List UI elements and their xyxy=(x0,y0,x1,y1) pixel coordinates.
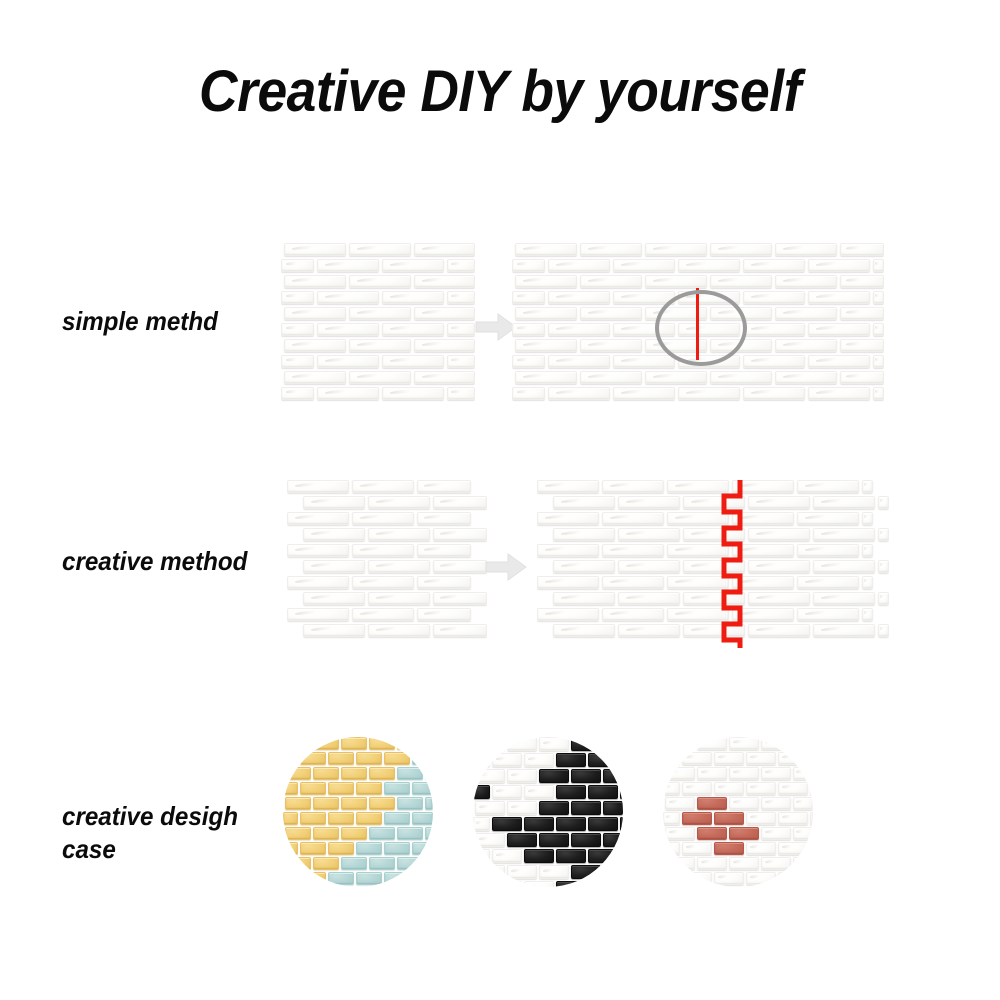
brick-tile xyxy=(283,842,298,855)
brick-tile xyxy=(548,355,610,368)
brick-tile xyxy=(793,827,813,840)
brick-tile xyxy=(663,782,680,795)
brick-tile xyxy=(515,339,577,352)
brick-tile xyxy=(369,857,395,870)
brick-tile xyxy=(473,785,490,799)
brick-tile xyxy=(697,827,727,840)
brick-tile xyxy=(317,291,379,304)
brick-tile xyxy=(475,801,505,815)
brick-tile xyxy=(397,767,423,780)
brick-tile xyxy=(492,785,522,799)
brick-tile xyxy=(813,496,875,509)
brick-tile xyxy=(300,842,326,855)
brick-tile xyxy=(808,355,870,368)
brick-tile xyxy=(281,323,314,336)
brick-tile xyxy=(313,857,339,870)
brick-tile xyxy=(588,849,618,863)
brick-tile xyxy=(775,339,837,352)
brick-tile xyxy=(603,737,623,751)
brick-tile xyxy=(475,865,505,879)
brick-tile xyxy=(507,737,537,751)
brick-tile xyxy=(414,307,475,320)
brick-tile xyxy=(313,827,339,840)
brick-tile xyxy=(873,323,885,336)
brick-tile xyxy=(588,785,618,799)
brick-tile xyxy=(524,785,554,799)
brick-tile xyxy=(808,387,870,400)
brick-tile xyxy=(761,797,791,810)
row-label-simple-method: simple methd xyxy=(62,305,218,338)
brick-tile xyxy=(512,291,545,304)
brick-tile xyxy=(414,243,475,256)
brick-tile xyxy=(349,243,411,256)
brick-tile xyxy=(840,371,884,384)
brick-tile xyxy=(382,355,444,368)
brick-tile xyxy=(539,833,569,847)
brick-tile xyxy=(714,752,744,765)
brick-tile xyxy=(300,812,326,825)
brick-tile xyxy=(810,842,813,855)
brick-tile xyxy=(475,833,505,847)
brick-tile xyxy=(553,560,615,573)
brick-tile xyxy=(580,243,642,256)
brick-tile xyxy=(775,371,837,384)
brick-tile xyxy=(797,608,859,621)
brick-tile xyxy=(285,857,311,870)
brick-tile xyxy=(382,259,444,272)
brick-tile xyxy=(797,576,859,589)
brick-tile xyxy=(793,767,813,780)
brick-tile xyxy=(729,827,759,840)
brick-tile xyxy=(512,259,545,272)
brick-tile xyxy=(368,624,430,637)
brick-tile xyxy=(748,592,810,605)
design-case-black-white-pixel xyxy=(473,737,623,887)
brick-tile xyxy=(878,624,889,637)
brick-tile xyxy=(553,496,615,509)
brick-tile xyxy=(515,243,577,256)
brick-tile xyxy=(300,872,326,885)
brick-tile xyxy=(284,339,346,352)
brick-tile xyxy=(349,307,411,320)
brick-tile xyxy=(341,797,367,810)
brick-tile xyxy=(417,512,471,525)
brick-tile xyxy=(761,767,791,780)
brick-tile xyxy=(284,307,346,320)
brick-tile xyxy=(682,812,712,825)
brick-tile xyxy=(303,560,365,573)
brick-tile xyxy=(369,737,395,750)
brick-tile xyxy=(433,528,487,541)
brick-tile xyxy=(328,782,354,795)
brick-tile xyxy=(425,797,433,810)
brick-tile xyxy=(356,872,382,885)
brick-tile xyxy=(571,833,601,847)
brick-tile xyxy=(384,752,410,765)
brick-tile xyxy=(813,528,875,541)
brick-tile xyxy=(602,544,664,557)
brick-tile xyxy=(397,827,423,840)
brick-tile xyxy=(746,842,776,855)
brick-tile xyxy=(492,817,522,831)
brick-tile xyxy=(714,782,744,795)
brick-tile xyxy=(524,849,554,863)
brick-tile xyxy=(878,496,889,509)
brick-tile xyxy=(537,608,599,621)
brick-tile xyxy=(507,801,537,815)
brick-tile xyxy=(778,752,808,765)
design-case-yellow-mint-diagonal xyxy=(283,737,433,887)
brick-tile xyxy=(368,592,430,605)
brick-tile xyxy=(341,767,367,780)
brick-tile xyxy=(412,812,433,825)
brick-tile xyxy=(714,842,744,855)
brick-tile xyxy=(397,857,423,870)
brick-tile xyxy=(382,291,444,304)
brick-tile xyxy=(613,291,675,304)
brick-tile xyxy=(588,817,618,831)
brick-tile xyxy=(743,355,805,368)
brick-tile xyxy=(447,323,476,336)
brick-tile xyxy=(663,842,680,855)
brick-tile xyxy=(775,275,837,288)
brick-tile xyxy=(620,753,623,767)
brick-tile xyxy=(356,842,382,855)
brick-tile xyxy=(284,243,346,256)
brick-tile xyxy=(678,387,740,400)
brick-tile xyxy=(303,592,365,605)
brick-tile xyxy=(317,323,379,336)
brick-tile xyxy=(285,737,311,750)
brick-tile xyxy=(433,592,487,605)
brick-tile xyxy=(352,544,414,557)
brick-tile xyxy=(682,782,712,795)
brick-tile xyxy=(697,737,727,750)
brick-tile xyxy=(682,872,712,885)
brick-tile xyxy=(539,769,569,783)
brick-tile xyxy=(553,624,615,637)
brick-tile xyxy=(548,291,610,304)
brick-tile xyxy=(548,323,610,336)
brick-tile xyxy=(382,387,444,400)
brick-tile xyxy=(447,387,476,400)
brick-tile xyxy=(553,592,615,605)
brick-tile xyxy=(748,528,810,541)
brick-tile xyxy=(369,797,395,810)
brick-tile xyxy=(729,737,759,750)
brick-tile xyxy=(571,801,601,815)
brick-tile xyxy=(873,259,885,272)
brick-tile xyxy=(878,560,889,573)
brick-tile xyxy=(588,753,618,767)
brick-tile xyxy=(524,881,554,887)
brick-tile xyxy=(571,737,601,751)
brick-tile xyxy=(571,865,601,879)
brick-tile xyxy=(368,528,430,541)
brick-tile xyxy=(349,371,411,384)
brick-tile xyxy=(447,259,476,272)
brick-tile xyxy=(475,737,505,751)
brick-tile xyxy=(287,576,349,589)
brick-tile xyxy=(797,512,859,525)
brick-tile xyxy=(602,608,664,621)
brick-tile xyxy=(613,259,675,272)
brick-tile xyxy=(778,812,808,825)
brick-tile xyxy=(645,371,707,384)
brick-tile xyxy=(285,797,311,810)
brick-tile xyxy=(729,857,759,870)
brick-tile xyxy=(475,769,505,783)
brick-tile xyxy=(813,592,875,605)
brick-tile xyxy=(810,812,813,825)
brick-tile xyxy=(797,544,859,557)
brick-tile xyxy=(603,801,623,815)
brick-tile xyxy=(473,881,490,887)
brick-tile xyxy=(368,560,430,573)
highlight-ellipse xyxy=(655,290,747,366)
brick-tile xyxy=(873,355,885,368)
brick-tile xyxy=(862,480,873,493)
brick-tile xyxy=(580,371,642,384)
panel-creative-before xyxy=(287,480,487,640)
brick-tile xyxy=(746,752,776,765)
brick-tile xyxy=(571,769,601,783)
brick-tile xyxy=(384,872,410,885)
brick-tile xyxy=(840,307,884,320)
brick-tile xyxy=(328,812,354,825)
panel-simple-before xyxy=(281,243,475,404)
brick-tile xyxy=(618,592,680,605)
brick-tile xyxy=(507,769,537,783)
brick-tile xyxy=(507,833,537,847)
brick-tile xyxy=(663,872,680,885)
brick-tile xyxy=(473,753,490,767)
brick-tile xyxy=(743,387,805,400)
brick-tile xyxy=(603,833,623,847)
brick-tile xyxy=(352,608,414,621)
brick-tile xyxy=(603,865,623,879)
brick-tile xyxy=(417,544,471,557)
brick-tile xyxy=(356,812,382,825)
brick-tile xyxy=(433,496,487,509)
brick-tile xyxy=(417,576,471,589)
brick-tile xyxy=(613,355,675,368)
brick-tile xyxy=(588,881,618,887)
arrow-right-icon xyxy=(484,550,528,584)
brick-tile xyxy=(433,624,487,637)
brick-tile xyxy=(548,259,610,272)
brick-tile xyxy=(746,872,776,885)
brick-tile xyxy=(775,243,837,256)
brick-tile xyxy=(382,323,444,336)
brick-tile xyxy=(580,275,642,288)
brick-tile xyxy=(862,544,873,557)
brick-tile xyxy=(761,827,791,840)
brick-tile xyxy=(537,512,599,525)
brick-tile xyxy=(775,307,837,320)
brick-tile xyxy=(473,849,490,863)
brick-tile xyxy=(412,872,433,885)
brick-tile xyxy=(748,624,810,637)
brick-tile xyxy=(300,782,326,795)
brick-tile xyxy=(425,767,433,780)
brick-tile xyxy=(778,842,808,855)
brick-tile xyxy=(352,576,414,589)
brick-tile xyxy=(317,259,379,272)
brick-tile xyxy=(556,817,586,831)
brick-tile xyxy=(425,857,433,870)
brick-tile xyxy=(663,812,680,825)
row-label-creative-design-case: creative desigh case xyxy=(62,800,238,867)
brick-tile xyxy=(433,560,487,573)
brick-tile xyxy=(341,857,367,870)
brick-tile xyxy=(473,817,490,831)
brick-tile xyxy=(556,881,586,887)
brick-tile xyxy=(743,259,805,272)
brick-tile xyxy=(873,291,885,304)
brick-tile xyxy=(548,387,610,400)
brick-tile xyxy=(300,752,326,765)
brick-tile xyxy=(539,737,569,751)
brick-tile xyxy=(317,355,379,368)
brick-tile xyxy=(761,737,791,750)
brick-tile xyxy=(714,872,744,885)
brick-tile xyxy=(746,812,776,825)
brick-tile xyxy=(281,259,314,272)
brick-tile xyxy=(303,496,365,509)
brick-tile xyxy=(352,512,414,525)
row-label-creative-method: creative method xyxy=(62,545,247,578)
brick-tile xyxy=(425,737,433,750)
brick-tile xyxy=(682,752,712,765)
brick-tile xyxy=(414,371,475,384)
brick-tile xyxy=(537,544,599,557)
page-title: Creative DIY by yourself xyxy=(40,58,960,125)
brick-tile xyxy=(665,797,695,810)
brick-tile xyxy=(813,560,875,573)
brick-tile xyxy=(492,753,522,767)
brick-tile xyxy=(556,785,586,799)
brick-tile xyxy=(793,857,813,870)
brick-tile xyxy=(512,387,545,400)
brick-tile xyxy=(285,767,311,780)
brick-tile xyxy=(797,480,859,493)
brick-tile xyxy=(524,817,554,831)
brick-tile xyxy=(620,849,623,863)
brick-tile xyxy=(537,480,599,493)
brick-tile xyxy=(682,842,712,855)
brick-tile xyxy=(710,275,772,288)
brick-tile xyxy=(620,785,623,799)
brick-tile xyxy=(515,371,577,384)
brick-tile xyxy=(356,752,382,765)
brick-tile xyxy=(793,737,813,750)
brick-tile xyxy=(665,767,695,780)
brick-tile xyxy=(349,339,411,352)
brick-tile xyxy=(710,243,772,256)
brick-tile xyxy=(303,624,365,637)
brick-tile xyxy=(397,737,423,750)
brick-tile xyxy=(665,857,695,870)
brick-tile xyxy=(603,769,623,783)
brick-tile xyxy=(384,782,410,795)
brick-tile xyxy=(813,624,875,637)
brick-tile xyxy=(620,881,623,887)
brick-tile xyxy=(349,275,411,288)
brick-tile xyxy=(618,624,680,637)
brick-tile xyxy=(303,528,365,541)
brick-tile xyxy=(492,881,522,887)
brick-tile xyxy=(537,576,599,589)
brick-tile xyxy=(524,753,554,767)
brick-tile xyxy=(793,797,813,810)
brick-tile xyxy=(873,387,885,400)
brick-tile xyxy=(384,812,410,825)
brick-tile xyxy=(341,827,367,840)
brick-tile xyxy=(352,480,414,493)
brick-tile xyxy=(613,387,675,400)
brick-tile xyxy=(281,355,314,368)
brick-tile xyxy=(283,782,298,795)
brick-tile xyxy=(317,387,379,400)
brick-tile xyxy=(285,827,311,840)
brick-tile xyxy=(425,827,433,840)
brick-tile xyxy=(414,275,475,288)
brick-tile xyxy=(618,496,680,509)
brick-tile xyxy=(417,480,471,493)
brick-tile xyxy=(539,865,569,879)
brick-tile xyxy=(618,528,680,541)
brick-tile xyxy=(778,782,808,795)
brick-tile xyxy=(580,339,642,352)
brick-tile xyxy=(492,849,522,863)
brick-tile xyxy=(808,323,870,336)
brick-tile xyxy=(283,812,298,825)
brick-tile xyxy=(710,371,772,384)
brick-tile xyxy=(729,767,759,780)
brick-tile xyxy=(862,608,873,621)
brick-tile xyxy=(810,872,813,885)
design-case-white-terracotta-accent xyxy=(663,737,813,887)
brick-tile xyxy=(412,752,433,765)
brick-tile xyxy=(862,512,873,525)
brick-tile xyxy=(808,259,870,272)
brick-tile xyxy=(412,842,433,855)
brick-tile xyxy=(328,842,354,855)
brick-tile xyxy=(368,496,430,509)
brick-tile xyxy=(447,291,476,304)
brick-tile xyxy=(810,782,813,795)
brick-tile xyxy=(714,812,744,825)
brick-tile xyxy=(810,752,813,765)
poster-root: Creative DIY by yourself simple methd cr… xyxy=(0,0,1000,1000)
brick-tile xyxy=(287,608,349,621)
brick-tile xyxy=(283,872,298,885)
brick-tile xyxy=(748,560,810,573)
brick-tile xyxy=(665,737,695,750)
brick-tile xyxy=(602,576,664,589)
brick-tile xyxy=(556,753,586,767)
brick-tile xyxy=(602,480,664,493)
brick-tile xyxy=(341,737,367,750)
brick-tile xyxy=(761,857,791,870)
brick-tile xyxy=(328,752,354,765)
brick-tile xyxy=(697,767,727,780)
brick-tile xyxy=(287,544,349,557)
seam-line-zigzag xyxy=(690,476,750,648)
brick-tile xyxy=(417,608,471,621)
brick-tile xyxy=(743,291,805,304)
